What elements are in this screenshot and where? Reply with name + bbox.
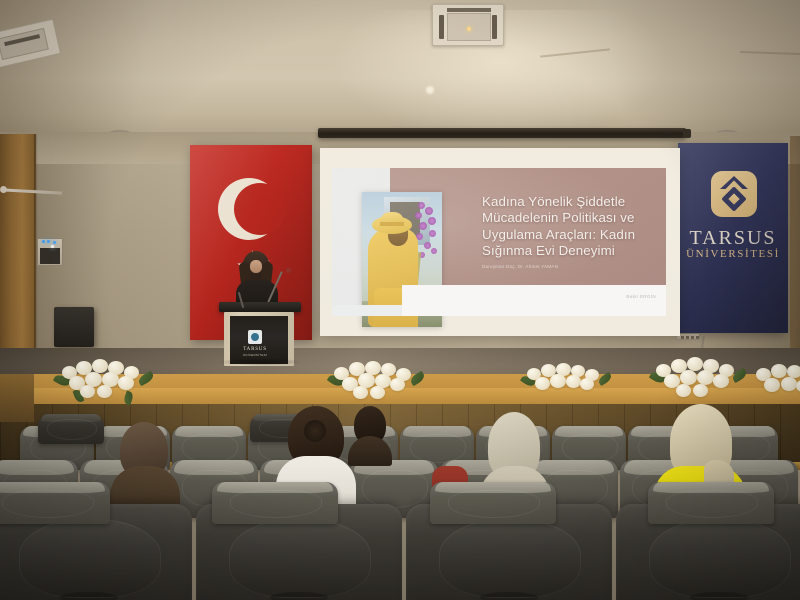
slide-title-line-2: Mücadelenin Politikası ve: [482, 210, 660, 226]
ceiling: [0, 0, 800, 142]
podium-top-surface: [219, 302, 301, 312]
seat: [648, 482, 774, 524]
speaker-face: [250, 260, 262, 273]
ac-vent-slot-right: [492, 15, 497, 39]
slide-title-line-1: Kadına Yönelik Şiddetle: [482, 194, 660, 210]
seat: [430, 482, 556, 524]
ac-top-bar: [447, 8, 491, 12]
attendee-dark-hair-small: [348, 406, 392, 466]
ceiling-downlight: [426, 86, 434, 94]
slide-title-line-3: Uygulama Araçları: Kadın: [482, 227, 660, 243]
ac-indicator-led: [467, 27, 471, 31]
seat: [212, 482, 338, 524]
flower-arrangement-5: [752, 362, 800, 408]
slide-advisor-byline: Danışman Doç. Dr. Ahmet YAMAN: [482, 264, 652, 269]
status-led-blue: [53, 241, 56, 244]
valance-end-cap: [683, 129, 691, 138]
av-box-panel: [40, 248, 60, 264]
slide-title-line-4: Sığınma Evi Deneyimi: [482, 243, 660, 259]
audience-seating: [0, 408, 800, 600]
podium-logo-icon: [248, 330, 262, 344]
status-led-white: [51, 245, 54, 248]
ceiling-shadow-right: [540, 0, 800, 142]
conduit-end-cap: [0, 186, 7, 193]
flower-arrangement-1: [52, 358, 162, 410]
slide-footer-left-column: [332, 305, 402, 316]
auditorium-photo: TARSUS ÜNİVERSİTESİ: [0, 0, 800, 600]
screen-valance-bar: [318, 128, 686, 138]
slide-footer-band: Bekir ERGİN: [402, 285, 666, 316]
floor-speaker: [54, 307, 94, 347]
projection-screen: Kadına Yönelik Şiddetle Mücadelenin Poli…: [320, 148, 680, 336]
status-led-blue: [42, 240, 45, 243]
seat: [38, 414, 104, 444]
flower-arrangement-2: [326, 360, 430, 410]
flower-arrangement-4: [648, 356, 752, 408]
flower-arrangement-3: [520, 362, 616, 410]
microphone-head-icon: [286, 268, 291, 273]
slide-presenter-name: Bekir ERGİN: [626, 294, 656, 299]
status-led-blue: [47, 240, 50, 243]
ac-cassette-unit-center: [432, 4, 504, 46]
ceiling-shadow-left: [0, 0, 200, 142]
podium-floor-shadow: [218, 358, 302, 366]
seat: [0, 482, 110, 524]
tarsus-university-banner: TARSUS ÜNİVERSİTESİ: [678, 143, 788, 333]
slide-title: Kadına Yönelik Şiddetle Mücadelenin Poli…: [482, 194, 660, 260]
banner-highlight: [678, 143, 788, 333]
podium-brand-subtitle: ÜNİVERSİTESİ: [238, 353, 272, 357]
wooden-trim-right: [790, 136, 800, 368]
wooden-pillar-left: [0, 134, 36, 372]
podium-and-speaker: TARSUS ÜNİVERSİTESİ: [214, 248, 306, 366]
ac-vent-slot-left: [439, 15, 444, 39]
podium-brand-name: TARSUS: [240, 347, 270, 352]
